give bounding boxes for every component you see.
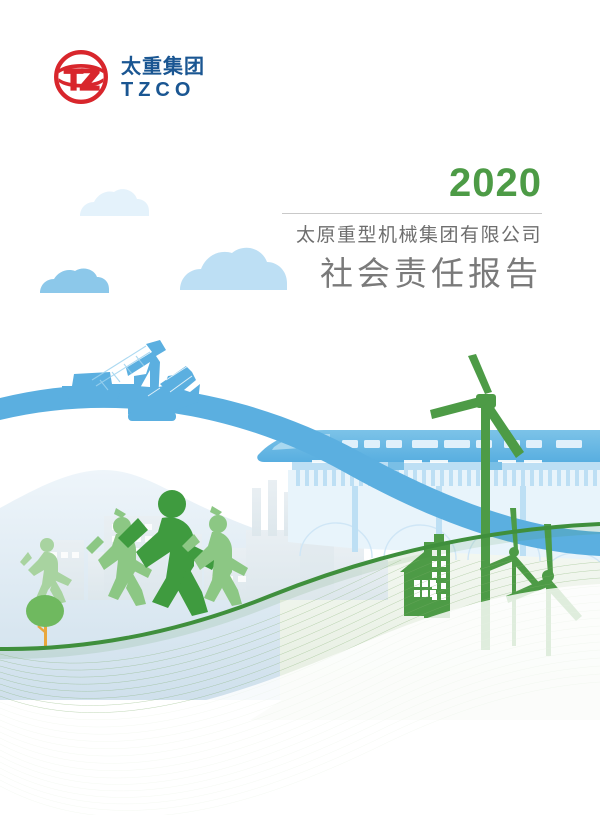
brand-logo[interactable]: 太重集团 TZCO: [50, 46, 205, 108]
report-title: 社会责任报告: [282, 254, 542, 294]
brand-name-cn: 太重集团: [121, 57, 205, 77]
report-cover-page: 太重集团 TZCO 2020 太原重型机械集团有限公司 社会责任报告: [0, 0, 600, 815]
title-divider: [282, 213, 542, 214]
report-year: 2020: [282, 163, 542, 203]
cloud-small-top: [80, 189, 149, 216]
cover-title-block: 2020 太原重型机械集团有限公司 社会责任报告: [282, 163, 542, 293]
cover-artwork: [0, 0, 600, 815]
cloud-large-right: [180, 248, 287, 290]
brand-name-en: TZCO: [121, 80, 205, 100]
tzco-circular-monogram-icon: [50, 46, 112, 108]
clouds-group: [40, 189, 287, 293]
cloud-small-left: [40, 269, 109, 293]
company-full-name: 太原重型机械集团有限公司: [282, 224, 542, 248]
brand-wordmark: 太重集团 TZCO: [121, 55, 205, 100]
